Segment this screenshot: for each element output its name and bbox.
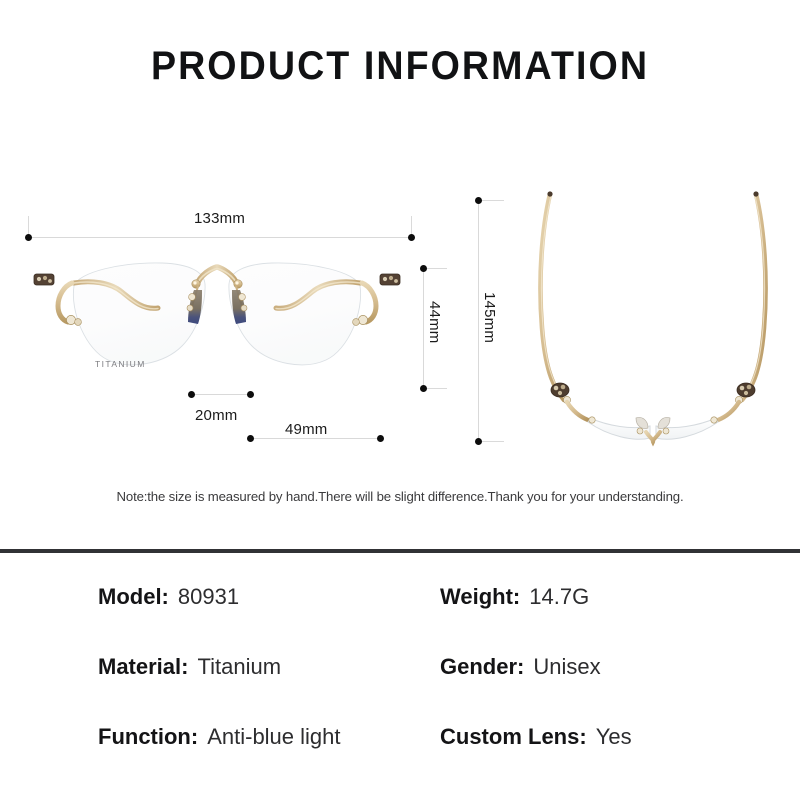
spec-value-material: Titanium — [197, 654, 281, 680]
spec-row: Model: 80931 Weight: 14.7G — [0, 584, 800, 624]
spec-item-model: Model: 80931 — [98, 584, 239, 610]
section-divider — [0, 549, 800, 553]
spec-item-weight: Weight: 14.7G — [440, 584, 589, 610]
dimension-dot-lens-width-right — [377, 435, 384, 442]
dimension-dot-temple-length-bottom — [475, 438, 482, 445]
glasses-top-view-illustration — [508, 188, 798, 456]
dimension-dot-temple-length-top — [475, 197, 482, 204]
spec-value-weight: 14.7G — [529, 584, 589, 610]
dimension-dot-bridge-width-left — [188, 391, 195, 398]
front-view-panel: 133mm — [0, 170, 450, 470]
dimension-dot-total-width-left — [25, 234, 32, 241]
dimension-dot-lens-width-left — [247, 435, 254, 442]
spec-item-function: Function: Anti-blue light — [98, 724, 341, 750]
spec-label-material: Material: — [98, 654, 188, 680]
specifications-table: Model: 80931 Weight: 14.7G Material: Tit… — [0, 578, 800, 778]
dimension-dot-total-width-right — [408, 234, 415, 241]
top-view-panel: 145mm — [450, 170, 800, 470]
spec-row: Function: Anti-blue light Custom Lens: Y… — [0, 724, 800, 764]
diagram-area: 133mm — [0, 170, 800, 470]
measurement-note: Note:the size is measured by hand.There … — [0, 489, 800, 504]
spec-item-material: Material: Titanium — [98, 654, 281, 680]
spec-item-gender: Gender: Unisex — [440, 654, 601, 680]
spec-value-gender: Unisex — [533, 654, 600, 680]
glasses-front-view-illustration — [12, 250, 422, 395]
page-title: PRODUCT INFORMATION — [24, 44, 776, 89]
dimension-line-total-width — [28, 237, 411, 238]
dimension-label-lens-height: 44mm — [426, 301, 443, 343]
dimension-line-lens-height — [423, 268, 424, 388]
spec-label-gender: Gender: — [440, 654, 524, 680]
dimension-label-lens-width: 49mm — [285, 421, 327, 438]
dimension-dot-lens-height-top — [420, 265, 427, 272]
spec-item-custom-lens: Custom Lens: Yes — [440, 724, 632, 750]
spec-row: Material: Titanium Gender: Unisex — [0, 654, 800, 694]
dimension-line-lens-width — [250, 438, 380, 439]
spec-value-custom-lens: Yes — [596, 724, 632, 750]
dimension-label-temple-length: 145mm — [481, 292, 498, 343]
dimension-label-bridge-width: 20mm — [195, 407, 237, 424]
spec-value-model: 80931 — [178, 584, 239, 610]
spec-value-function: Anti-blue light — [207, 724, 340, 750]
dimension-dot-lens-height-bottom — [420, 385, 427, 392]
spec-label-model: Model: — [98, 584, 169, 610]
product-information-page: PRODUCT INFORMATION 133mm — [0, 0, 800, 800]
spec-label-custom-lens: Custom Lens: — [440, 724, 587, 750]
dimension-dot-bridge-width-right — [247, 391, 254, 398]
lens-engraving-text: TITANIUM — [95, 359, 146, 369]
spec-label-function: Function: — [98, 724, 198, 750]
dimension-label-total-width: 133mm — [194, 210, 245, 227]
spec-label-weight: Weight: — [440, 584, 520, 610]
dimension-line-bridge-width — [191, 394, 250, 395]
dimension-line-temple-length — [478, 200, 479, 441]
